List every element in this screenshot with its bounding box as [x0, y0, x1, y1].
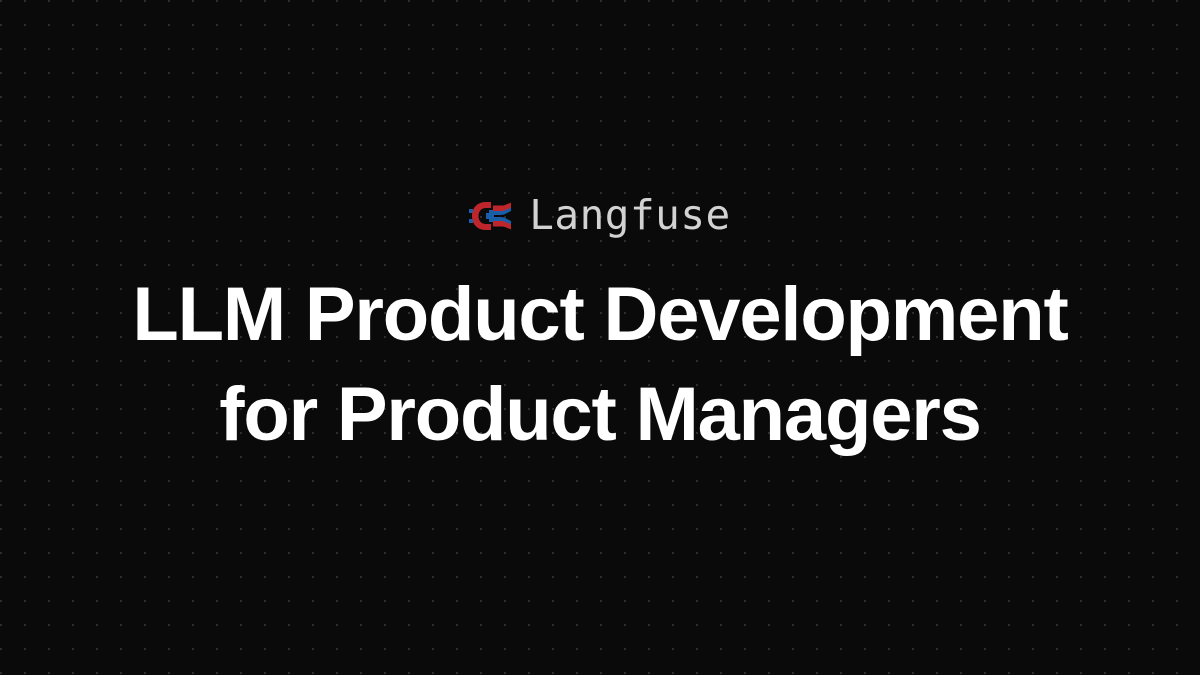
langfuse-logo-mark-icon [469, 199, 511, 233]
page-title-line-1: LLM Product Development [132, 265, 1067, 365]
card-content: Langfuse LLM Product Development for Pro… [0, 193, 1200, 465]
langfuse-wordmark: Langfuse [529, 195, 730, 236]
og-card: Langfuse LLM Product Development for Pro… [0, 0, 1200, 675]
page-title-line-2: for Product Managers [132, 365, 1067, 465]
brand-lockup: Langfuse [469, 193, 730, 239]
page-title: LLM Product Development for Product Mana… [132, 265, 1067, 465]
